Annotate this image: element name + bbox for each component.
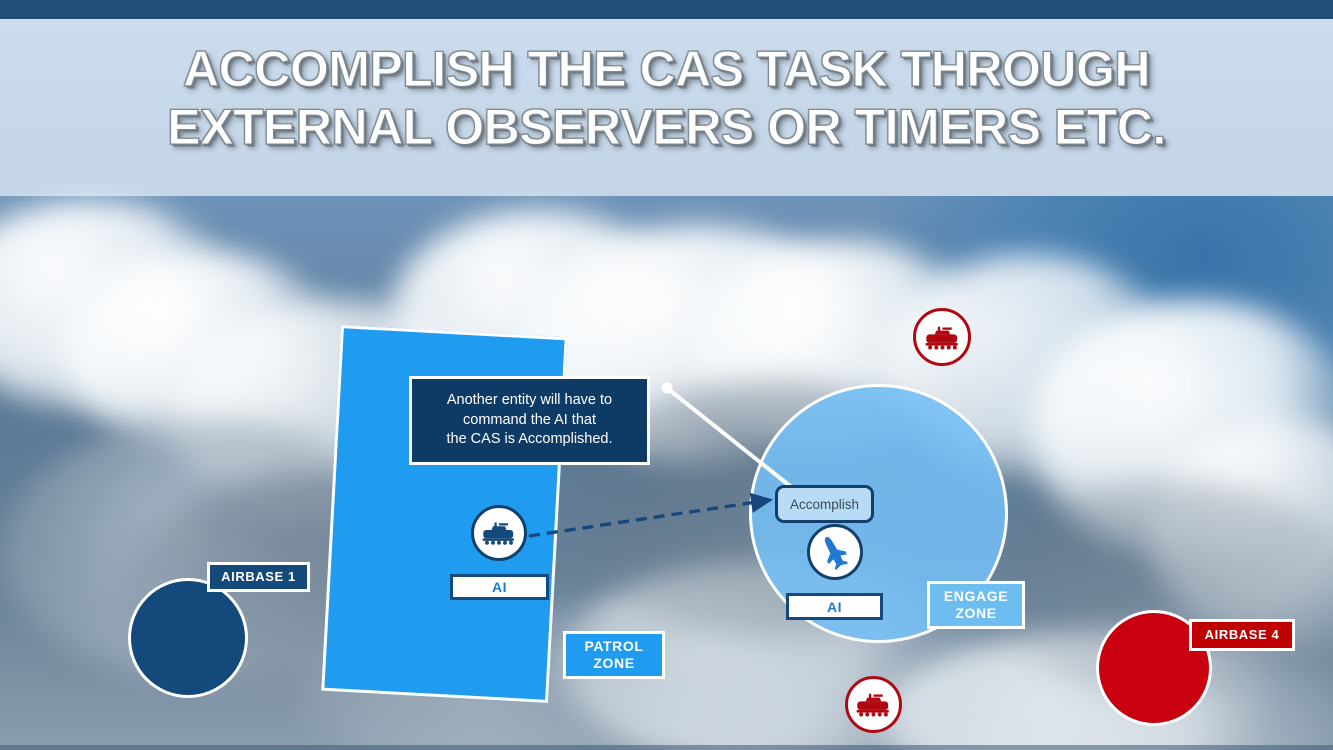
- top-accent-bar: [0, 0, 1333, 19]
- friendly-tank-token[interactable]: [471, 505, 527, 561]
- callout-box[interactable]: Another entity will have to command the …: [409, 376, 650, 465]
- airbase-1-label[interactable]: AIRBASE 1: [207, 562, 310, 592]
- patrol-zone-label-line-2: ZONE: [593, 655, 634, 671]
- tank-icon: [481, 520, 517, 546]
- accomplish-node[interactable]: Accomplish: [775, 485, 874, 523]
- callout-line-2: command the AI that: [463, 412, 596, 428]
- engage-zone-label[interactable]: ENGAGE ZONE: [927, 581, 1025, 629]
- ai-label-patrol[interactable]: AI: [450, 574, 549, 600]
- engage-zone-label-line-2: ZONE: [955, 605, 996, 621]
- title-line-1: ACCOMPLISH THE CAS TASK THROUGH: [0, 40, 1333, 98]
- engage-zone-label-line-1: ENGAGE: [944, 588, 1008, 604]
- tank-icon: [924, 324, 961, 351]
- title-line-2: EXTERNAL OBSERVERS OR TIMERS ETC.: [0, 98, 1333, 156]
- callout-line-3: the CAS is Accomplished.: [446, 431, 612, 447]
- enemy-tank-token-north[interactable]: [913, 308, 971, 366]
- tank-icon: [855, 691, 892, 718]
- friendly-jet-token[interactable]: [807, 524, 863, 580]
- airbase-1-circle[interactable]: [128, 578, 248, 698]
- slide-canvas: ACCOMPLISH THE CAS TASK THROUGH EXTERNAL…: [0, 0, 1333, 750]
- airbase-4-label[interactable]: AIRBASE 4: [1189, 619, 1295, 651]
- enemy-tank-token-south[interactable]: [845, 676, 902, 733]
- callout-line-1: Another entity will have to: [447, 392, 612, 408]
- patrol-zone-label[interactable]: PATROL ZONE: [563, 631, 665, 679]
- patrol-zone-label-line-1: PATROL: [584, 638, 643, 654]
- fighter-jet-icon: [816, 533, 854, 571]
- page-title: ACCOMPLISH THE CAS TASK THROUGH EXTERNAL…: [0, 40, 1333, 156]
- bottom-accent-line: [0, 745, 1333, 750]
- ai-label-engage[interactable]: AI: [786, 593, 883, 620]
